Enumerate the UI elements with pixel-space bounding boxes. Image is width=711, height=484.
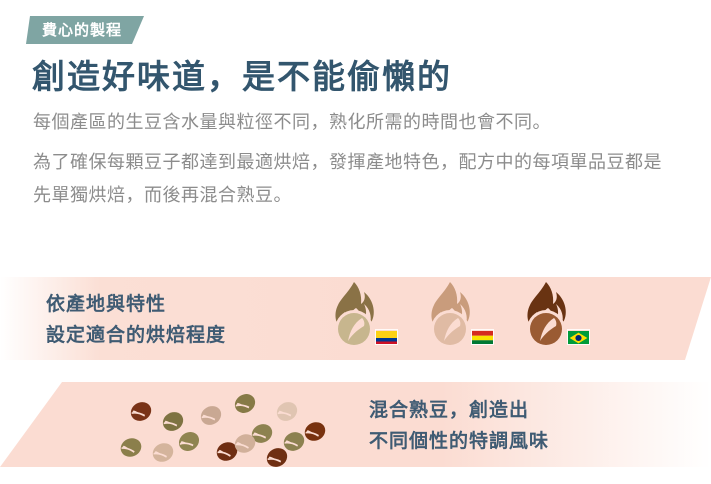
coffee-bean xyxy=(273,398,302,425)
coffee-bean xyxy=(197,402,226,429)
coffee-bean xyxy=(231,390,260,418)
body-copy: 每個產區的生豆含水量與粒徑不同，熟化所需的時間也會不同。 為了確保每顆豆子都達到… xyxy=(33,106,673,212)
page-title: 創造好味道，是不能偷懶的 xyxy=(32,50,452,98)
roast-profile-band: 依產地與特性 設定適合的烘焙程度 xyxy=(0,277,711,360)
blend-caption-line-1: 混合熟豆，創造出 xyxy=(369,395,549,426)
blend-band-background xyxy=(0,382,711,467)
blend-caption-line-2: 不同個性的特調風味 xyxy=(369,426,549,457)
section-badge-label: 費心的製程 xyxy=(42,23,122,38)
brazil-flag-icon xyxy=(567,329,590,345)
coffee-bean xyxy=(175,427,204,455)
bolivia-flag-icon xyxy=(471,329,494,345)
paragraph-2: 為了確保每顆豆子都達到最適烘焙，發揮產地特色，配方中的每項單品豆都是先單獨烘焙，… xyxy=(33,146,673,212)
section-badge: 費心的製程 xyxy=(26,16,144,44)
blend-band-caption: 混合熟豆，創造出 不同個性的特調風味 xyxy=(369,395,549,457)
coffee-bean xyxy=(117,435,145,461)
roast-band-caption: 依產地與特性 設定適合的烘焙程度 xyxy=(46,289,226,351)
roast-origin-bolivia xyxy=(414,279,506,359)
paragraph-1: 每個產區的生豆含水量與粒徑不同，熟化所需的時間也會不同。 xyxy=(33,106,673,139)
blend-band: 混合熟豆，創造出 不同個性的特調風味 xyxy=(0,382,711,467)
roast-icon-group xyxy=(318,279,608,359)
roast-caption-line-1: 依產地與特性 xyxy=(46,289,226,320)
coffee-bean xyxy=(159,408,188,435)
roast-caption-line-2: 設定適合的烘焙程度 xyxy=(46,320,226,351)
coffee-bean-scatter xyxy=(118,382,328,467)
roast-origin-colombia xyxy=(318,279,410,359)
coffee-bean xyxy=(149,439,177,466)
colombia-flag-icon xyxy=(375,329,398,345)
roast-origin-brazil xyxy=(510,279,602,359)
coffee-bean xyxy=(127,398,155,425)
